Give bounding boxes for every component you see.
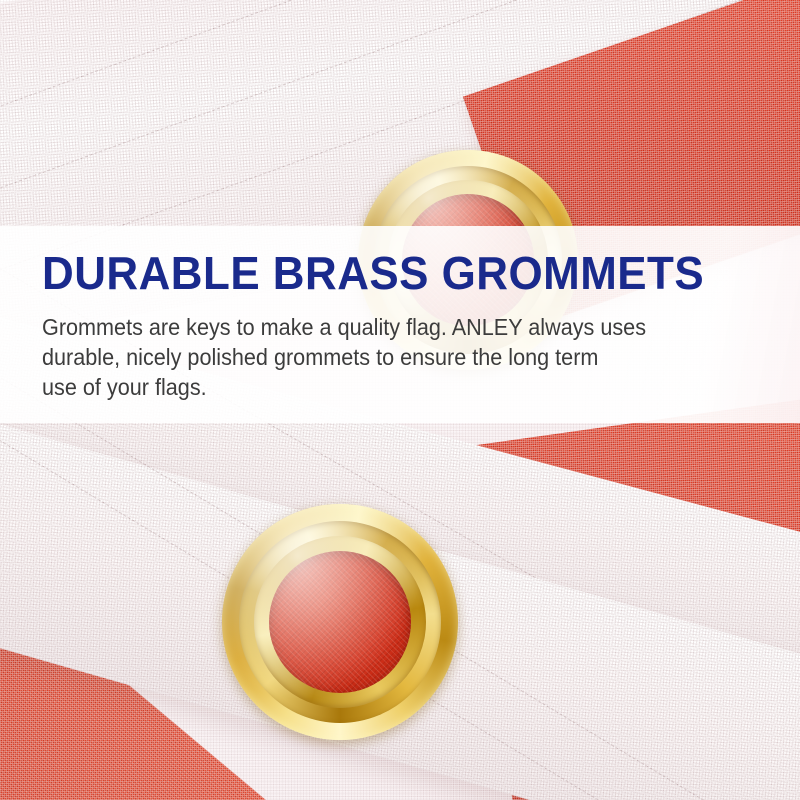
body-copy-line-3: use of your flags. [42,372,630,402]
body-copy-line-2: durable, nicely polished grommets to ens… [42,342,630,372]
headline: DURABLE BRASS GROMMETS [42,247,704,299]
brass-grommet-bottom [222,504,458,740]
product-feature-image: DURABLE BRASS GROMMETS Grommets are keys… [0,0,800,800]
grommet-hole-red-fabric [269,551,411,693]
body-copy-line-1: Grommets are keys to make a quality flag… [42,312,630,342]
body-copy: Grommets are keys to make a quality flag… [42,312,630,402]
